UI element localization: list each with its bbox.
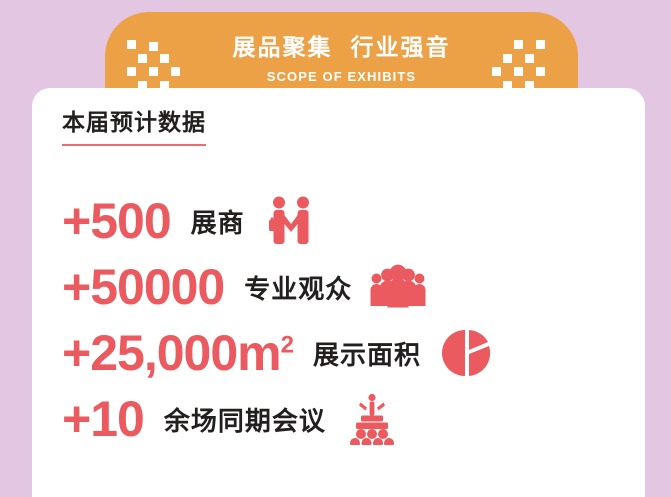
stat-number: +50000 [62, 262, 224, 312]
list-item: +50000 专业观众 [32, 254, 645, 320]
stats-list: +500 展商 +50000 专业观众 [32, 188, 645, 452]
list-item: +500 展商 [32, 188, 645, 254]
handshake-exhibitors-icon [263, 193, 319, 249]
conference-podium-icon [344, 391, 400, 447]
dot-grid-icon [492, 40, 560, 90]
stat-label: 余场同期会议 [164, 401, 326, 438]
stat-label: 展示面积 [313, 335, 421, 372]
stat-number-value: +25,000m [62, 325, 281, 381]
banner-title-left: 展品聚集 [233, 34, 333, 60]
pie-chart-area-icon [439, 325, 495, 381]
stat-number-superscript: 2 [281, 331, 293, 358]
stat-number: +10 [62, 394, 144, 444]
list-item: +10 余场同期会议 [32, 386, 645, 452]
banner-title-right: 行业强音 [351, 34, 451, 60]
stat-number: +25,000m2 [62, 328, 293, 378]
stat-label: 专业观众 [244, 269, 352, 306]
data-card: 本届预计数据 +500 展商 [32, 88, 645, 497]
page-title: 本届预计数据 [62, 109, 206, 146]
stat-label: 展商 [191, 203, 245, 240]
audience-group-icon [370, 259, 426, 315]
stat-number: +500 [62, 196, 171, 246]
scope-of-exhibits-banner: 展品聚集行业强音 SCOPE OF EXHIBITS [105, 12, 578, 90]
list-item: +25,000m2 展示面积 [32, 320, 645, 386]
